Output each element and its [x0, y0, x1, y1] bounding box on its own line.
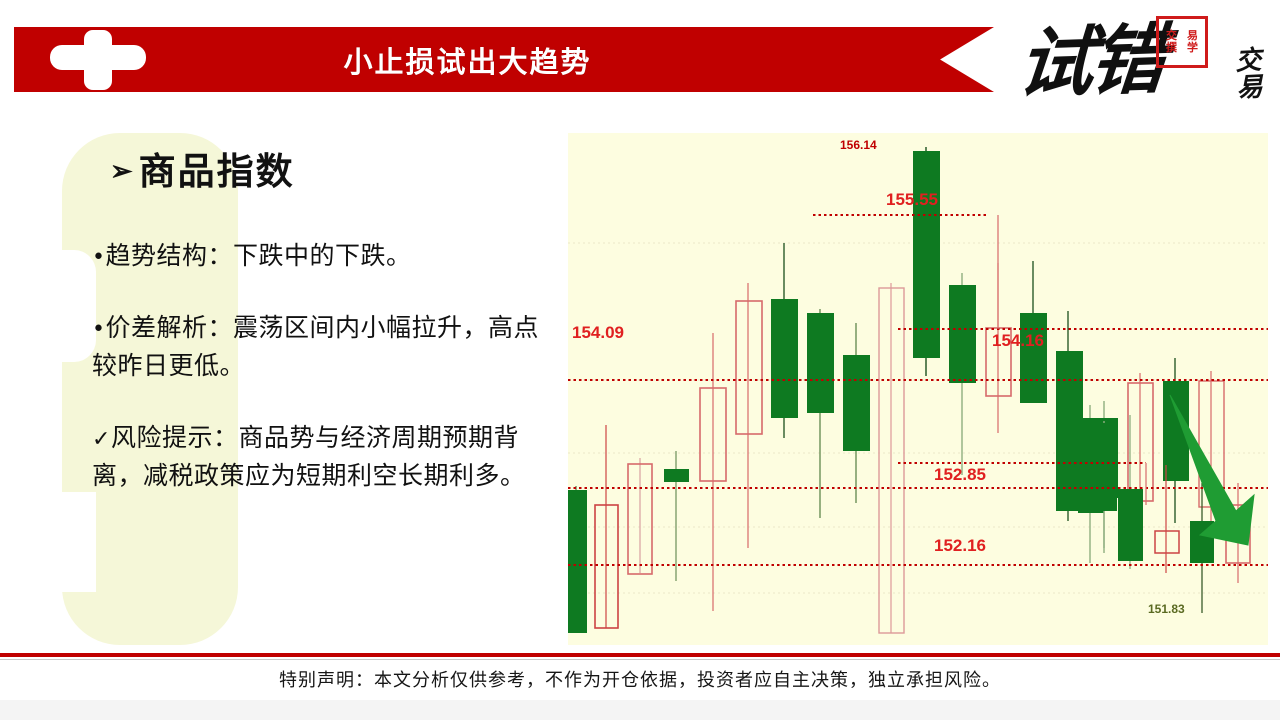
plus-cross-icon: [50, 30, 146, 90]
decorative-notch-bottom: [62, 492, 96, 592]
footer-band: [0, 700, 1280, 720]
section-heading: ➢ 商品指数: [110, 150, 562, 193]
seal-char-2: 撰: [1161, 42, 1182, 54]
bullet-marker: •: [92, 317, 105, 342]
candle-series: [568, 147, 1250, 633]
logo-subtext-bottom: 易: [1236, 75, 1263, 104]
bullet-item-trend: •趋势结构：下跌中的下跌。: [92, 237, 562, 275]
logo-calligraphy: 试错: [1014, 22, 1165, 103]
price-label-154-16: 154.16: [992, 331, 1044, 351]
cross-bar-vertical: [84, 30, 112, 90]
logo-seal-stamp: 交 易 撰 学: [1156, 16, 1208, 68]
footer-disclaimer: 特别声明：本文分析仅供参考，不作为开仓依据，投资者应自主决策，独立承担风险。: [0, 666, 1280, 692]
logo-subtext: 交 易: [1235, 47, 1264, 103]
bullet-item-spread: •价差解析：震荡区间内小幅拉升，高点较昨日更低。: [92, 309, 562, 385]
footer-divider: [0, 653, 1280, 657]
candle-9: [879, 283, 904, 633]
footer-divider-thin: [0, 659, 1280, 660]
candle-0: [568, 486, 587, 633]
brand-logo: 试错 交 易 撰 学 交 易: [1018, 8, 1268, 128]
candlestick-chart: 156.14 155.55 154.09 154.16 152.85 152.1…: [568, 133, 1268, 645]
candle-5: [736, 283, 762, 548]
slide-root: 小止损试出大趋势 试错 交 易 撰 学 交 易 ➢ 商品指数 •趋势结构：下跌中…: [0, 0, 1280, 720]
logo-subtext-top: 交: [1235, 47, 1262, 76]
bullet-text: 风险提示：商品势与经济周期预期背离，减税政策应为短期利空长期利多。: [92, 423, 526, 490]
candle-17: [1163, 358, 1189, 523]
bullet-text: 价差解析：震荡区间内小幅拉升，高点较昨日更低。: [92, 313, 539, 380]
candle-2: [628, 458, 652, 574]
candle-21: [1118, 415, 1143, 569]
price-label-151-83: 151.83: [1148, 602, 1185, 616]
price-label-154-09: 154.09: [572, 323, 624, 343]
bullet-item-risk: ✓风险提示：商品势与经济周期预期背离，减税政策应为短期利空长期利多。: [92, 419, 562, 495]
decorative-notch-top: [62, 250, 96, 362]
price-label-156-14: 156.14: [840, 138, 877, 152]
candle-10: [913, 147, 940, 376]
bullet-text: 趋势结构：下跌中的下跌。: [105, 241, 411, 270]
price-label-152-85: 152.85: [934, 465, 986, 485]
candle-7: [807, 309, 834, 518]
bullet-marker: •: [92, 245, 105, 270]
candle-3: [664, 451, 689, 581]
price-label-155-55: 155.55: [886, 190, 938, 210]
candle-8: [843, 323, 870, 503]
candle-11: [949, 273, 976, 475]
content-body: ➢ 商品指数 •趋势结构：下跌中的下跌。 •价差解析：震荡区间内小幅拉升，高点较…: [92, 150, 562, 529]
candle-6: [771, 243, 798, 438]
check-icon: ✓: [92, 427, 111, 452]
heading-arrow-icon: ➢: [110, 158, 135, 185]
section-heading-label: 商品指数: [139, 150, 295, 193]
seal-char-3: 学: [1182, 42, 1203, 54]
candle-4: [700, 333, 726, 611]
header-banner: 小止损试出大趋势: [0, 27, 1010, 92]
price-label-152-16: 152.16: [934, 536, 986, 556]
